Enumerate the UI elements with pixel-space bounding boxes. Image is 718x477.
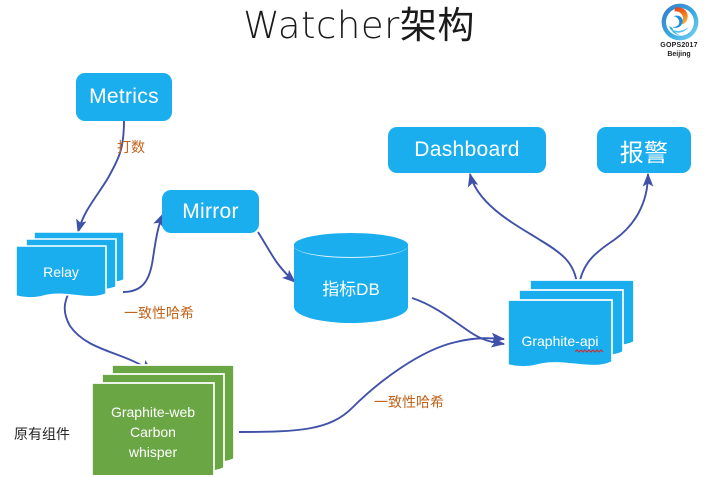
edge-relay-to-mirror xyxy=(123,214,163,292)
node-dashboard[interactable]: Dashboard xyxy=(388,127,546,173)
logo-line1: GOPS2017 xyxy=(648,42,710,49)
node-metrics-label: Metrics xyxy=(89,85,159,109)
node-dashboard-label: Dashboard xyxy=(414,138,519,162)
node-relay-shape xyxy=(14,230,126,302)
annotation-legacy-to-api: 一致性哈希 xyxy=(374,392,444,412)
node-mirror[interactable]: Mirror xyxy=(162,190,259,233)
spellcheck-squiggle-icon xyxy=(575,349,605,353)
legacy-side-label: 原有组件 xyxy=(14,424,70,444)
node-mirror-label: Mirror xyxy=(182,200,239,224)
node-metrics[interactable]: Metrics xyxy=(76,73,172,121)
node-graphite-api-shape xyxy=(506,278,636,370)
edge-mirror-to-db xyxy=(258,232,295,282)
node-relay[interactable]: Relay xyxy=(14,230,126,302)
node-alert-label: 报警 xyxy=(620,133,669,168)
node-legacy-stack[interactable]: Graphite-web Carbon whisper xyxy=(90,363,236,475)
db-cylinder-top xyxy=(294,233,408,258)
edge-api-to-dashboard xyxy=(470,174,577,285)
logo-line2: Beijing xyxy=(648,51,710,58)
node-legacy-stack-shape xyxy=(90,363,236,475)
node-alert[interactable]: 报警 xyxy=(597,127,691,173)
edge-legacy-to-api xyxy=(239,338,504,432)
annotation-relay-to-legacy: 一致性哈希 xyxy=(124,303,194,323)
slide-canvas: Watcher架构 GOPS2017 Beiji xyxy=(0,0,718,477)
edge-api-to-alert xyxy=(579,174,648,285)
node-metrics-db[interactable]: 指标DB xyxy=(294,233,408,323)
gops-logo: GOPS2017 Beijing xyxy=(648,2,710,64)
annotation-metrics-to-relay: 打数 xyxy=(117,137,145,157)
page-title: Watcher架构 xyxy=(0,2,718,50)
edge-db-to-api xyxy=(412,298,504,344)
node-graphite-api[interactable]: Graphite-api xyxy=(506,278,636,370)
gops-logo-icon xyxy=(660,2,700,42)
node-metrics-db-label: 指标DB xyxy=(294,275,408,300)
